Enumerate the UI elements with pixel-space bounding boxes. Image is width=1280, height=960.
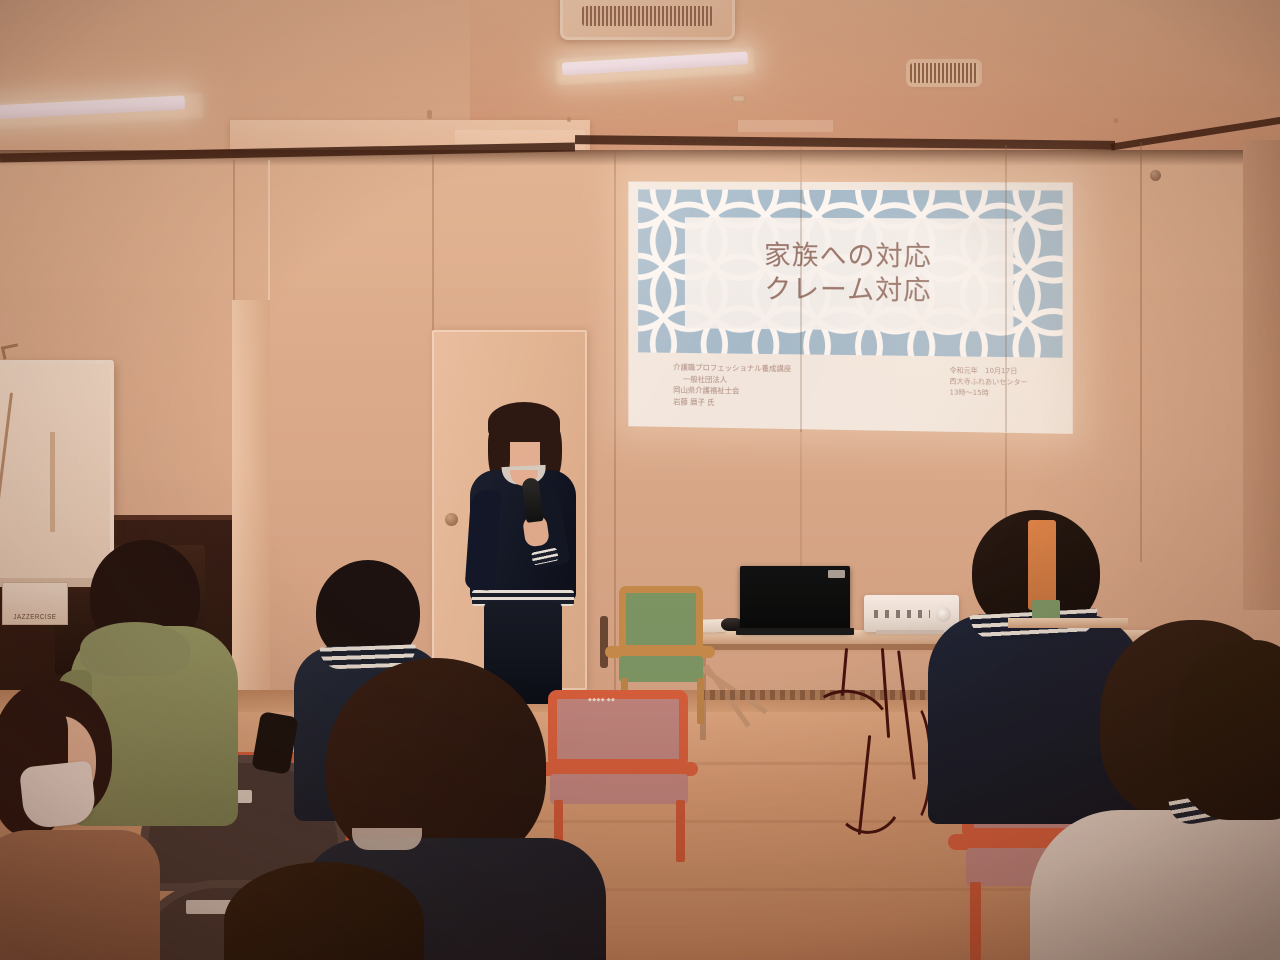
ceiling-speck-2 [1114, 118, 1118, 123]
slide-title-line-1: 家族への対応 [764, 241, 932, 274]
slide-footer: 介護職プロフェッショナル養成講座 一般社団法人 岡山県介護福祉士会 岩藤 麿子 … [638, 355, 1062, 427]
screen-panel-seam [800, 182, 802, 432]
ceiling-ac-cassette-icon [560, 0, 735, 40]
ceiling-sprinkler-icon [732, 95, 745, 102]
ceiling-exhaust-vent-icon [910, 63, 978, 83]
attendee-masked-woman [0, 680, 180, 960]
attendee-green-hoodie-hood [80, 622, 190, 676]
green-chair-back [619, 586, 703, 652]
wall-seam-7 [1140, 142, 1142, 562]
attendee-masked-woman-body [0, 830, 160, 960]
wall-knob-right [1150, 170, 1161, 181]
wall-return-right [1243, 140, 1280, 610]
side-table-far [1008, 618, 1128, 628]
attendee-back-head-hair [224, 862, 424, 960]
attendee-far-right-edge [1172, 640, 1280, 840]
whiteboard-stand [50, 432, 55, 532]
attendee-back-head [224, 862, 434, 960]
attendee-masked-woman-face-mask-icon [19, 760, 97, 829]
pointer-stick-icon [0, 392, 13, 556]
ceiling-hatch [738, 120, 833, 132]
pink-chair-leg-r [676, 800, 685, 862]
footer-speaker-name: 岩藤 麿子 氏 [673, 396, 791, 409]
slide-title-box: 家族への対応 クレーム対応 [685, 217, 1014, 332]
jazzercise-sign-label: JAZZERCISE [13, 614, 56, 621]
door-knob-icon[interactable] [445, 513, 458, 526]
lecture-room-photo: JAZZERCISE 家族への対応 クレーム対応 介護職プロフェッショナル養成講… [0, 0, 1280, 960]
footer-time: 13時～15時 [949, 388, 1027, 400]
ceiling-speck [427, 110, 432, 119]
orange-chair-back-far [1028, 520, 1056, 610]
slide-footer-left: 介護職プロフェッショナル養成講座 一般社団法人 岡山県介護福祉士会 岩藤 麿子 … [673, 362, 791, 423]
slide-title-line-2: クレーム対応 [764, 274, 931, 307]
slide-footer-right: 令和元年 10月17日 西大寺ふれあいセンター 13時～15時 [949, 365, 1027, 427]
attendee-bob-haircut-collar [352, 828, 422, 850]
ceiling-speck-3 [567, 117, 571, 122]
laptop[interactable] [740, 566, 850, 632]
pink-chair-right-leg-l [970, 882, 981, 960]
green-chair-seat [619, 656, 703, 682]
attendee-far-right-hair [1172, 640, 1280, 820]
screen-panel-seam-2 [1005, 182, 1007, 432]
